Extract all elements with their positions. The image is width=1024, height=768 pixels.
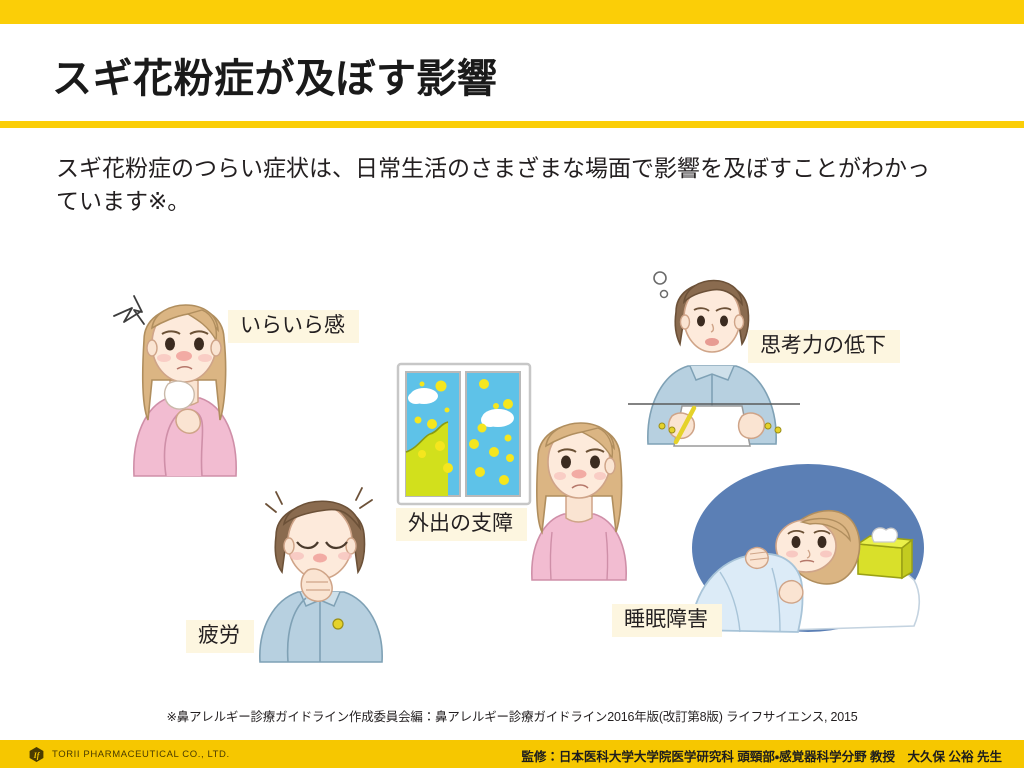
woman-awake-in-bed-illustration	[690, 462, 926, 634]
label-thinking-decline: 思考力の低下	[748, 330, 900, 363]
label-irritation: いらいら感	[228, 310, 359, 343]
page-title: スギ花粉症が及ぼす影響	[52, 46, 498, 104]
window-with-pollen-illustration	[396, 362, 532, 506]
title-underline-rule	[0, 121, 1024, 128]
tired-man-illustration	[252, 478, 402, 664]
lead-paragraph: スギ花粉症のつらい症状は、日常生活のさまざまな場面で影響を及ぼすことがわかってい…	[56, 152, 936, 219]
label-outing-hindrance: 外出の支障	[396, 508, 527, 541]
sad-woman-indoors-illustration	[518, 392, 638, 582]
top-accent-bar	[0, 0, 1024, 24]
irritated-woman-illustration	[104, 268, 260, 480]
label-fatigue: 疲労	[186, 620, 254, 653]
reference-footnote: ※鼻アレルギー診療ガイドライン作成委員会編：鼻アレルギー診療ガイドライン2016…	[0, 706, 1024, 725]
label-sleep-disorder: 睡眠障害	[612, 604, 722, 637]
supervisor-credit: 監修：日本医科大学大学院医学研究科 頭頸部・感覚器科学分野 教授 大久保 公裕 …	[521, 746, 1002, 765]
company-name: TORII PHARMACEUTICAL CO., LTD.	[52, 749, 230, 760]
company-logo: If TORII PHARMACEUTICAL CO., LTD.	[28, 746, 230, 763]
torii-hexagon-icon: If	[28, 746, 45, 763]
